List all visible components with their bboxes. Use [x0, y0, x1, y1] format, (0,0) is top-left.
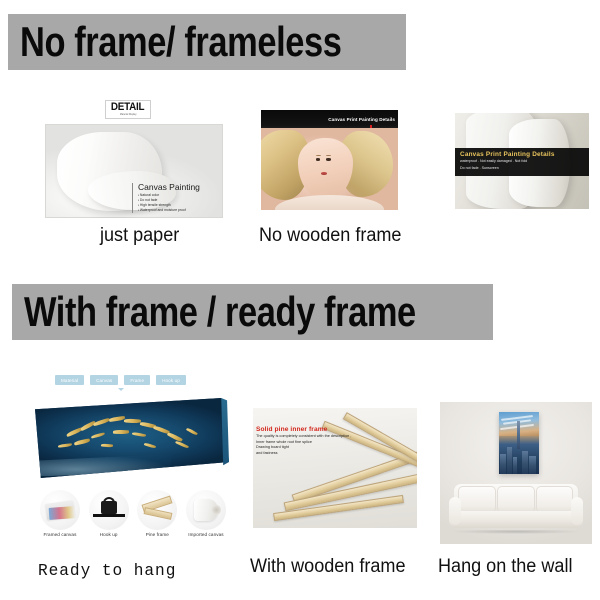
- canvas-roll-photo: Canvas Print Painting Details waterproof…: [455, 113, 589, 209]
- canvas-roll-label-line: Do not fade . Sunscreen: [460, 165, 584, 171]
- feature-icon-cell[interactable]: Imported canvas: [183, 490, 229, 546]
- feature-tabs[interactable]: Material Canvas Frame Hook up: [55, 375, 186, 385]
- caption-ready-to-hang: Ready to hang: [38, 562, 176, 581]
- wall-canvas-artwork: [499, 412, 539, 474]
- eyebrow-left: [316, 155, 321, 156]
- caption-no-wooden-frame: No wooden frame: [259, 225, 401, 247]
- section-banner-no-frame: No frame/ frameless: [8, 14, 406, 70]
- fish-shape: [132, 432, 146, 438]
- sofa-shadow: [452, 530, 580, 534]
- section-banner-with-frame: With frame / ready frame: [12, 284, 493, 340]
- fish-shape: [143, 443, 155, 449]
- feature-icon-row: Framed canvas Hook up Pine frame Importe…: [37, 490, 229, 546]
- fish-shape: [109, 416, 125, 422]
- sofa-arm-left: [449, 497, 461, 526]
- product-detail-page: No frame/ frameless DETAIL Material Disp…: [0, 0, 600, 600]
- feature-icon-cell[interactable]: Framed canvas: [37, 490, 83, 546]
- sofa: [449, 484, 583, 535]
- lips-shape: [321, 172, 327, 175]
- tab-hook-up[interactable]: Hook up: [156, 375, 186, 385]
- sofa-cushion: [458, 486, 495, 513]
- artwork-building: [513, 457, 517, 474]
- caption-hang-on-the-wall: Hang on the wall: [438, 556, 572, 578]
- canvas-roll-label-title: Canvas Print Painting Details: [460, 151, 584, 159]
- product-image-ready-to-hang[interactable]: Material Canvas Frame Hook up: [33, 372, 232, 548]
- artwork-building: [500, 454, 506, 474]
- framed-canvas-icon: [40, 490, 80, 530]
- feature-icon-label: Imported canvas: [183, 532, 229, 537]
- eyebrow-right: [326, 155, 331, 156]
- tab-material[interactable]: Material: [55, 375, 84, 385]
- sofa-arm-right: [571, 497, 583, 526]
- fish-shape: [186, 427, 197, 435]
- pine-frame-line: and fastness: [256, 451, 374, 457]
- artwork-building: [507, 447, 512, 474]
- portrait-band-label: Canvas Print Painting Details: [328, 117, 395, 122]
- detail-badge-subtitle: Material Display: [120, 114, 137, 116]
- canvas-feature-item: Waterproof and moisture proof: [138, 208, 218, 213]
- sofa-seat: [449, 511, 583, 528]
- feature-icon-cell[interactable]: Hook up: [86, 490, 132, 546]
- caption-with-wooden-frame: With wooden frame: [250, 556, 406, 578]
- fish-shape: [113, 430, 129, 434]
- product-image-no-wooden-frame[interactable]: Canvas Print Painting Details: [261, 110, 398, 210]
- sofa-cushion: [497, 486, 534, 513]
- tab-canvas[interactable]: Canvas: [90, 375, 118, 385]
- face-shape: [298, 138, 353, 199]
- canvas-paper-photo: Canvas Painting Natural color Do not fad…: [45, 124, 223, 218]
- section-banner-no-frame-text: No frame/ frameless: [20, 18, 341, 66]
- eye-right: [326, 158, 330, 160]
- detail-badge: DETAIL Material Display: [105, 100, 151, 119]
- fish-shape: [91, 432, 105, 438]
- canvas-artwork-face: [35, 398, 229, 478]
- canvas-roll-label: Canvas Print Painting Details waterproof…: [455, 148, 589, 177]
- artwork-building: [529, 456, 536, 475]
- eye-left: [316, 158, 320, 160]
- canvas-painting-info-title: Canvas Painting: [138, 183, 218, 192]
- canvas-painting-info: Canvas Painting Natural color Do not fad…: [132, 183, 218, 213]
- pine-frame-text-block: Solid pine inner frame The quality is co…: [256, 426, 374, 457]
- artwork-building: [522, 451, 528, 475]
- framed-canvas-3d-preview: [35, 398, 229, 478]
- fish-shape: [101, 444, 113, 448]
- feature-icon-label: Pine frame: [134, 532, 180, 537]
- portrait-photo: [261, 128, 398, 210]
- detail-badge-title: DETAIL: [111, 102, 144, 113]
- room-scene-photo: [440, 402, 592, 544]
- caption-just-paper: just paper: [100, 225, 179, 247]
- imported-canvas-icon: [186, 490, 226, 530]
- section-banner-with-frame-text: With frame / ready frame: [24, 288, 416, 336]
- tab-frame[interactable]: Frame: [124, 375, 150, 385]
- pine-frame-title: Solid pine inner frame: [256, 426, 374, 434]
- pine-frame-photo: Solid pine inner frame The quality is co…: [253, 408, 417, 528]
- product-image-just-paper[interactable]: DETAIL Material Display Canvas Painting …: [45, 96, 223, 218]
- feature-icon-label: Framed canvas: [37, 532, 83, 537]
- water-foam-shape: [35, 454, 171, 476]
- hook-up-icon: [89, 490, 129, 530]
- artwork-tower: [517, 421, 521, 450]
- product-image-canvas-roll[interactable]: Canvas Print Painting Details waterproof…: [455, 113, 589, 209]
- feature-icon-cell[interactable]: Pine frame: [134, 490, 180, 546]
- fish-shape: [175, 440, 189, 449]
- feature-icon-label: Hook up: [86, 532, 132, 537]
- fish-shape: [58, 444, 72, 449]
- product-image-pine-frame[interactable]: Solid pine inner frame The quality is co…: [253, 408, 417, 528]
- fish-shape: [74, 438, 90, 445]
- pine-frame-icon: [137, 490, 177, 530]
- fish-shape: [167, 431, 182, 441]
- sofa-cushion: [536, 486, 573, 513]
- product-image-hang-on-wall[interactable]: [440, 402, 592, 544]
- chevron-down-icon: [118, 388, 124, 391]
